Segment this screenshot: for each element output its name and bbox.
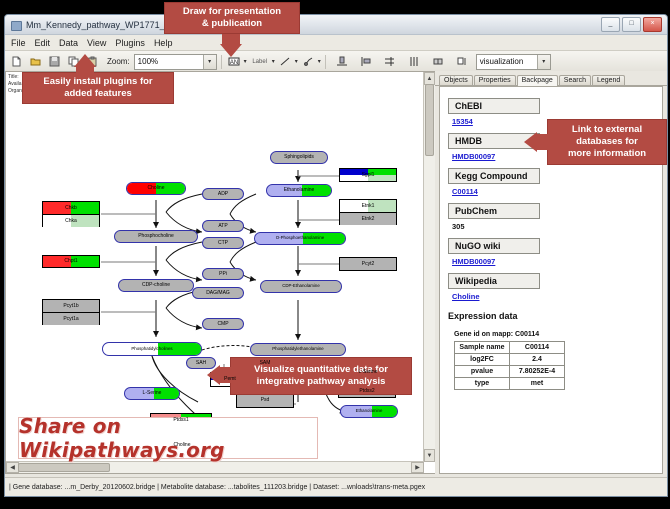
expression-table: Sample name C00114 log2FC 2.4 pvalue 7.8… — [454, 341, 565, 390]
new-file-icon[interactable] — [8, 53, 25, 70]
menu-item-data[interactable]: Data — [59, 38, 78, 48]
wikipedia-header: Wikipedia — [448, 273, 540, 289]
callout-link-stem — [537, 134, 548, 150]
node-etnk1[interactable]: Etnk1 — [340, 200, 396, 213]
callout-link: Link to external databases for more info… — [547, 119, 667, 165]
app-icon — [10, 19, 22, 31]
node-chkb[interactable]: Chkb — [43, 202, 99, 215]
tab-objects[interactable]: Objects — [439, 75, 473, 85]
node-sphingolipids[interactable]: Sphingolipids — [270, 151, 328, 164]
callout-link-line2: databases for — [576, 136, 638, 148]
node-label: Pcyt1a — [63, 316, 78, 322]
menu-item-file[interactable]: File — [11, 38, 26, 48]
node-cmp[interactable]: CMP — [202, 318, 244, 330]
node-label: O-Phosphoethanolamine — [276, 236, 325, 240]
menu-item-view[interactable]: View — [87, 38, 106, 48]
horizontal-scroll-thumb[interactable] — [18, 463, 110, 472]
node-ctp[interactable]: CTP — [202, 237, 244, 249]
cell-log2fc-label: log2FC — [455, 354, 510, 366]
callout-visualize-line2: integrative pathway analysis — [257, 376, 386, 388]
node-label: Psd — [261, 398, 270, 403]
node-label: SAM — [260, 361, 271, 366]
menu-bar: File Edit Data View Plugins Help — [5, 35, 667, 51]
node-label: CDP-Ethanolamine — [282, 284, 320, 288]
cell-pvalue-label: pvalue — [455, 366, 510, 378]
chevron-down-icon[interactable]: ▾ — [244, 58, 247, 65]
node-label: Phosphocholine — [138, 234, 174, 239]
node-label: Pcyt2 — [362, 262, 375, 267]
callout-plugins-line1: Easily install plugins for — [43, 76, 152, 88]
node-label: ADP — [218, 192, 228, 197]
table-row: Sample name C00114 — [455, 342, 565, 354]
table-row: log2FC 2.4 — [455, 354, 565, 366]
callout-plugins-arrow — [74, 54, 96, 67]
node-etnk2[interactable]: Etnk2 — [340, 213, 396, 225]
node-label: Ethanolamine — [356, 409, 383, 413]
screenshot-root: Mm_Kennedy_pathway_WP1771_45176.gpml _ □… — [0, 0, 670, 509]
callout-link-line3: more information — [568, 148, 646, 160]
node-sgpl1[interactable]: Sgpl1 — [339, 168, 397, 182]
chebi-header: ChEBI — [448, 98, 540, 114]
pubchem-header: PubChem — [448, 203, 540, 219]
node-adp[interactable]: ADP — [202, 188, 244, 200]
callout-draw-arrow — [220, 44, 242, 57]
callout-draw-line2: & publication — [202, 18, 262, 30]
node-pcyt2[interactable]: Pcyt2 — [339, 257, 397, 271]
status-text: | Gene database: ...m_Derby_20120602.bri… — [9, 484, 425, 491]
canvas-horizontal-scrollbar[interactable]: ◀ ▶ — [6, 461, 424, 473]
node-label: Ethanolamine — [284, 188, 315, 193]
toolbar: Zoom: 100% ▾ AN ▾ Label ▾ — [5, 51, 667, 73]
line-tool[interactable]: ▾ — [277, 53, 298, 70]
expression-data-heading: Expression data — [448, 311, 654, 321]
callout-visualize: Visualize quantitative data for integrat… — [230, 357, 412, 395]
kegg-link[interactable]: C00114 — [452, 187, 654, 196]
node-label: CTP — [218, 241, 228, 246]
node-label: Etnk1 — [362, 203, 375, 209]
node-label: Etnk2 — [362, 216, 375, 222]
chevron-down-icon[interactable]: ▾ — [537, 55, 550, 69]
zoom-label: Zoom: — [107, 57, 130, 66]
zoom-combobox[interactable]: 100% ▾ — [134, 54, 217, 70]
scroll-down-button[interactable]: ▼ — [424, 449, 435, 462]
minimize-button[interactable]: _ — [601, 17, 620, 32]
node-ppi[interactable]: PPi — [202, 268, 244, 280]
svg-text:AN: AN — [230, 60, 238, 66]
save-icon[interactable] — [46, 53, 63, 70]
node-l-serine-left[interactable]: L-Serine — [124, 387, 180, 400]
cell-pvalue-value: 7.80252E-4 — [510, 366, 565, 378]
order-icon[interactable] — [454, 53, 471, 70]
close-button[interactable]: × — [643, 17, 662, 32]
meta-organism: Organi — [8, 88, 23, 95]
align-bottom-icon[interactable] — [334, 53, 351, 70]
label-icon-text: Label — [252, 59, 267, 65]
nugo-link[interactable]: HMDB00097 — [452, 257, 654, 266]
node-label: Pemt — [224, 377, 236, 382]
tab-legend[interactable]: Legend — [592, 75, 625, 85]
node-label: Chpt1 — [64, 259, 77, 264]
zoom-value: 100% — [138, 57, 158, 66]
node-cdp-ethanolamine[interactable]: CDP-Ethanolamine — [260, 280, 342, 293]
node-dagmag[interactable]: DAG/MAG — [192, 287, 244, 299]
table-row: type met — [455, 378, 565, 390]
callout-draw: Draw for presentation & publication — [164, 2, 300, 34]
gene-group-chk[interactable]: Chkb Chka — [42, 201, 100, 227]
title-bar: Mm_Kennedy_pathway_WP1771_45176.gpml _ □… — [5, 15, 667, 35]
toolbar-separator-2 — [325, 55, 326, 69]
align-left-icon[interactable] — [358, 53, 375, 70]
callout-share-text: Share on Wikipathways.org — [19, 414, 317, 462]
tab-properties[interactable]: Properties — [474, 75, 516, 85]
tab-search[interactable]: Search — [559, 75, 591, 85]
visualization-value: visualization — [480, 57, 524, 66]
side-panel-tabs: Objects Properties Backpage Search Legen… — [435, 71, 667, 86]
node-label: SAH — [196, 361, 206, 366]
maximize-button[interactable]: □ — [622, 17, 641, 32]
distribute-vertical-icon[interactable] — [382, 53, 399, 70]
callout-link-arrow — [524, 132, 537, 152]
node-label: CMP — [217, 322, 228, 327]
node-label: Choline — [148, 186, 165, 191]
node-choline-top[interactable]: Choline — [126, 182, 186, 195]
node-pcyt1a[interactable]: Pcyt1a — [43, 313, 99, 325]
node-phosphatidylcholines[interactable]: Phosphatidylcholines — [102, 342, 202, 356]
node-label: Chka — [65, 218, 77, 224]
callout-share: Share on Wikipathways.org — [18, 417, 318, 459]
node-label: Sphingolipids — [284, 155, 314, 160]
callout-draw-line1: Draw for presentation — [183, 6, 281, 18]
label-icon[interactable]: Label — [249, 53, 271, 70]
node-label: Phosphatidylethanolamine — [272, 347, 324, 351]
vertical-scroll-thumb[interactable] — [425, 84, 434, 156]
node-phosphocholine[interactable]: Phosphocholine — [114, 230, 198, 243]
menu-item-plugins[interactable]: Plugins — [115, 38, 145, 48]
callout-draw-stem — [222, 34, 240, 44]
node-label: Chkb — [65, 205, 77, 211]
menu-item-edit[interactable]: Edit — [35, 38, 51, 48]
menu-item-help[interactable]: Help — [154, 38, 173, 48]
cell-log2fc-value: 2.4 — [510, 354, 565, 366]
tab-backpage[interactable]: Backpage — [517, 75, 558, 86]
anchor-icon[interactable] — [300, 53, 317, 70]
node-label: DAG/MAG — [206, 291, 230, 296]
scroll-right-button[interactable]: ▶ — [411, 462, 424, 473]
node-ethanolamine-right[interactable]: Ethanolamine — [340, 405, 398, 418]
cell-sample-name-label: Sample name — [455, 342, 510, 354]
callout-plugins-stem — [76, 66, 94, 74]
node-label: Ptdss1 — [173, 418, 188, 423]
anchor-tool[interactable]: ▾ — [300, 53, 321, 70]
node-phosphatidylethanolamine[interactable]: Phosphatidylethanolamine — [250, 343, 346, 356]
gene-group-etnk[interactable]: Etnk1 Etnk2 — [339, 199, 397, 225]
node-label: CDP-choline — [142, 283, 170, 288]
node-label: PPi — [219, 272, 227, 277]
node-pcyt1b[interactable]: Pcyt1b — [43, 300, 99, 313]
chevron-down-icon[interactable]: ▾ — [295, 58, 298, 65]
node-label: Phosphatidylcholines — [131, 347, 172, 351]
visualization-combobox[interactable]: visualization ▾ — [476, 54, 551, 70]
meta-title: Title: — [8, 74, 23, 81]
label-tool[interactable]: Label ▾ — [249, 53, 275, 70]
node-label: Choline — [174, 443, 191, 448]
gene-group-pcyt1[interactable]: Pcyt1b Pcyt1a — [42, 299, 100, 325]
chevron-down-icon[interactable]: ▾ — [318, 58, 321, 65]
cell-type-label: type — [455, 378, 510, 390]
meta-availability: Availa — [8, 81, 23, 88]
node-label: L-Serine — [143, 391, 162, 396]
node-label: L-Serine — [359, 370, 378, 375]
node-label: Sgpl1 — [362, 173, 375, 178]
node-label: ATP — [218, 224, 227, 229]
node-ethanolamine[interactable]: Ethanolamine — [266, 184, 332, 197]
canvas-vertical-scrollbar[interactable]: ▲ ▼ — [423, 72, 435, 462]
node-o-phosphoethanolamine[interactable]: O-Phosphoethanolamine — [254, 232, 346, 245]
chevron-down-icon[interactable]: ▾ — [203, 55, 216, 69]
callout-link-line1: Link to external — [572, 124, 642, 136]
group-icon[interactable] — [430, 53, 447, 70]
table-row: pvalue 7.80252E-4 — [455, 366, 565, 378]
gene-id-line: Gene id on mapp: C00114 — [454, 331, 654, 338]
node-atp[interactable]: ATP — [202, 220, 244, 232]
node-cdp-choline[interactable]: CDP-choline — [118, 279, 194, 292]
distribute-horizontal-icon[interactable] — [406, 53, 423, 70]
node-label: Pcyt1b — [63, 303, 78, 309]
cell-sample-name-value: C00114 — [510, 342, 565, 354]
callout-visualize-arrow — [207, 365, 220, 385]
chevron-down-icon[interactable]: ▾ — [272, 58, 275, 65]
cell-type-value: met — [510, 378, 565, 390]
callout-plugins: Easily install plugins for added feature… — [22, 72, 174, 104]
pubchem-value: 305 — [452, 222, 654, 231]
nugo-header: NuGO wiki — [448, 238, 540, 254]
status-bar: | Gene database: ...m_Derby_20120602.bri… — [5, 477, 667, 496]
callout-plugins-line2: added features — [64, 88, 132, 100]
line-icon[interactable] — [277, 53, 294, 70]
open-folder-icon[interactable] — [27, 53, 44, 70]
node-chka[interactable]: Chka — [43, 215, 99, 227]
canvas-meta-labels: Title: Availa Organi — [8, 74, 23, 95]
window-controls: _ □ × — [601, 17, 664, 32]
node-chpt1[interactable]: Chpt1 — [42, 255, 100, 268]
node-label: Ptdss2 — [359, 389, 374, 394]
kegg-header: Kegg Compound — [448, 168, 540, 184]
wikipedia-link[interactable]: Choline — [452, 292, 654, 301]
